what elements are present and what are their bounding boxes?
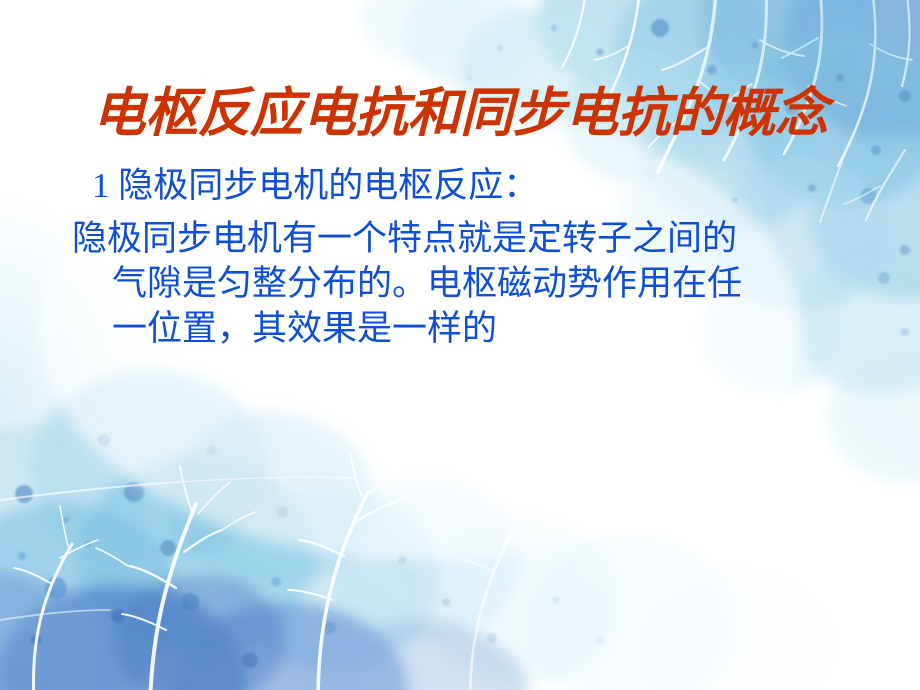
slide-content: 电枢反应电抗和同步电抗的概念 1 隐极同步电机的电枢反应： 隐极同步电机有一个特… <box>0 0 920 690</box>
body-paragraph-line-1: 隐极同步电机有一个特点就是定转子之间的 <box>72 216 902 261</box>
page-title: 电枢反应电抗和同步电抗的概念 <box>0 86 920 143</box>
body-heading-line: 1 隐极同步电机的电枢反应： <box>92 163 902 208</box>
body-paragraph-line-3: 一位置，其效果是一样的 <box>72 306 902 351</box>
body-paragraph: 隐极同步电机有一个特点就是定转子之间的 气隙是匀整分布的。电枢磁动势作用在任 一… <box>72 216 902 351</box>
presentation-slide: 电枢反应电抗和同步电抗的概念 1 隐极同步电机的电枢反应： 隐极同步电机有一个特… <box>0 0 920 690</box>
slide-body: 1 隐极同步电机的电枢反应： 隐极同步电机有一个特点就是定转子之间的 气隙是匀整… <box>72 163 902 351</box>
body-paragraph-line-2: 气隙是匀整分布的。电枢磁动势作用在任 <box>72 261 902 306</box>
